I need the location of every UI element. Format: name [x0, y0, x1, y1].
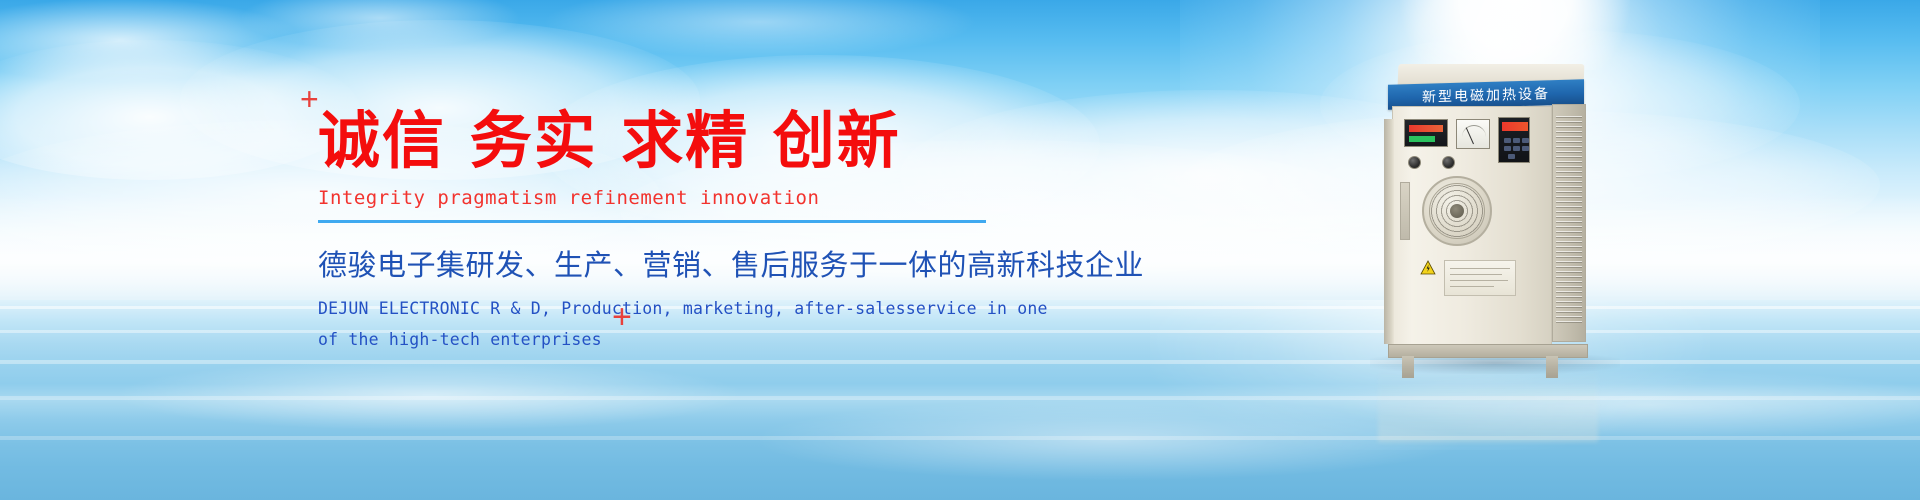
warning-triangle-icon	[1420, 260, 1436, 276]
machine-base	[1388, 344, 1588, 358]
machine-cooling-fan	[1422, 176, 1492, 246]
machine-control-keypad	[1498, 117, 1530, 163]
plate-text-line	[1450, 286, 1494, 287]
machine-knob	[1408, 156, 1421, 169]
product-machine: 新型电磁加热设备	[1378, 64, 1598, 364]
keypad-button	[1522, 138, 1529, 143]
machine-foot	[1402, 356, 1414, 378]
display-segment-red	[1409, 125, 1443, 132]
section-divider	[318, 220, 986, 223]
headline-slogan-english: Integrity pragmatism refinement innovati…	[318, 187, 1018, 209]
keypad-display	[1502, 122, 1528, 131]
company-description: 德骏电子集研发、生产、营销、售后服务于一体的高新科技企业	[318, 242, 1018, 284]
plate-text-line	[1450, 280, 1508, 281]
keypad-button	[1508, 154, 1515, 159]
plate-text-line	[1450, 274, 1502, 275]
company-description-english: DEJUN ELECTRONIC R & D, Production, mark…	[318, 294, 1018, 355]
hero-banner: + + 诚信 务实 求精 创新 Integrity pragmatism ref…	[0, 0, 1920, 500]
keypad-button	[1513, 138, 1520, 143]
wave-highlight	[120, 360, 740, 430]
display-segment-green	[1409, 136, 1435, 142]
machine-vertical-bar	[1400, 182, 1410, 240]
headline-slogan: 诚信 务实 求精 创新	[318, 104, 1018, 177]
description-english-line-2: of the high-tech enterprises	[318, 325, 1018, 356]
machine-foot	[1546, 356, 1558, 378]
plate-text-line	[1450, 268, 1510, 269]
wave-highlight	[1340, 370, 1920, 440]
wave-highlight	[760, 400, 1460, 480]
banner-copy-block: 诚信 务实 求精 创新 Integrity pragmatism refinem…	[318, 104, 1018, 355]
machine-spec-plate	[1444, 260, 1516, 296]
keypad-button	[1522, 146, 1529, 151]
machine-vent-slots	[1556, 116, 1582, 326]
keypad-button	[1513, 146, 1520, 151]
machine-digital-display	[1404, 119, 1448, 147]
machine-analog-gauge	[1456, 119, 1490, 149]
machine-left-edge	[1384, 119, 1394, 344]
description-english-line-1: DEJUN ELECTRONIC R & D, Production, mark…	[318, 294, 1018, 325]
keypad-button	[1504, 138, 1511, 143]
machine-knob	[1442, 156, 1455, 169]
cloud-band-top	[0, 0, 1920, 120]
fan-hub	[1450, 204, 1464, 218]
keypad-button	[1504, 146, 1511, 151]
